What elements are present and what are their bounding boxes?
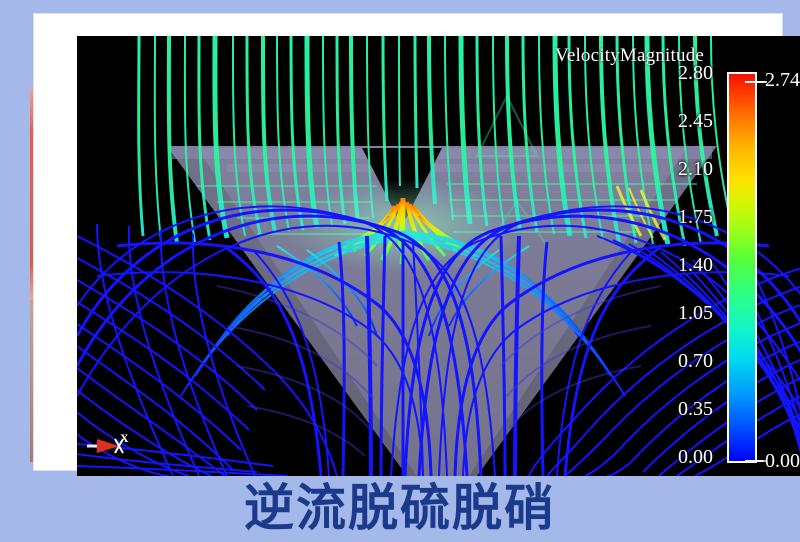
slide-root: VelocityMagnitude 2.80 2.45 2.10 1.75 1.…: [0, 0, 800, 542]
cfd-plot-canvas[interactable]: VelocityMagnitude 2.80 2.45 2.10 1.75 1.…: [77, 36, 800, 476]
caption-text: 逆流脱硫脱硝: [244, 483, 556, 533]
figure-frame: VelocityMagnitude 2.80 2.45 2.10 1.75 1.…: [34, 14, 782, 470]
cfd-streamline-scene: [77, 36, 800, 476]
caption-bar: 逆流脱硫脱硝: [0, 474, 800, 542]
